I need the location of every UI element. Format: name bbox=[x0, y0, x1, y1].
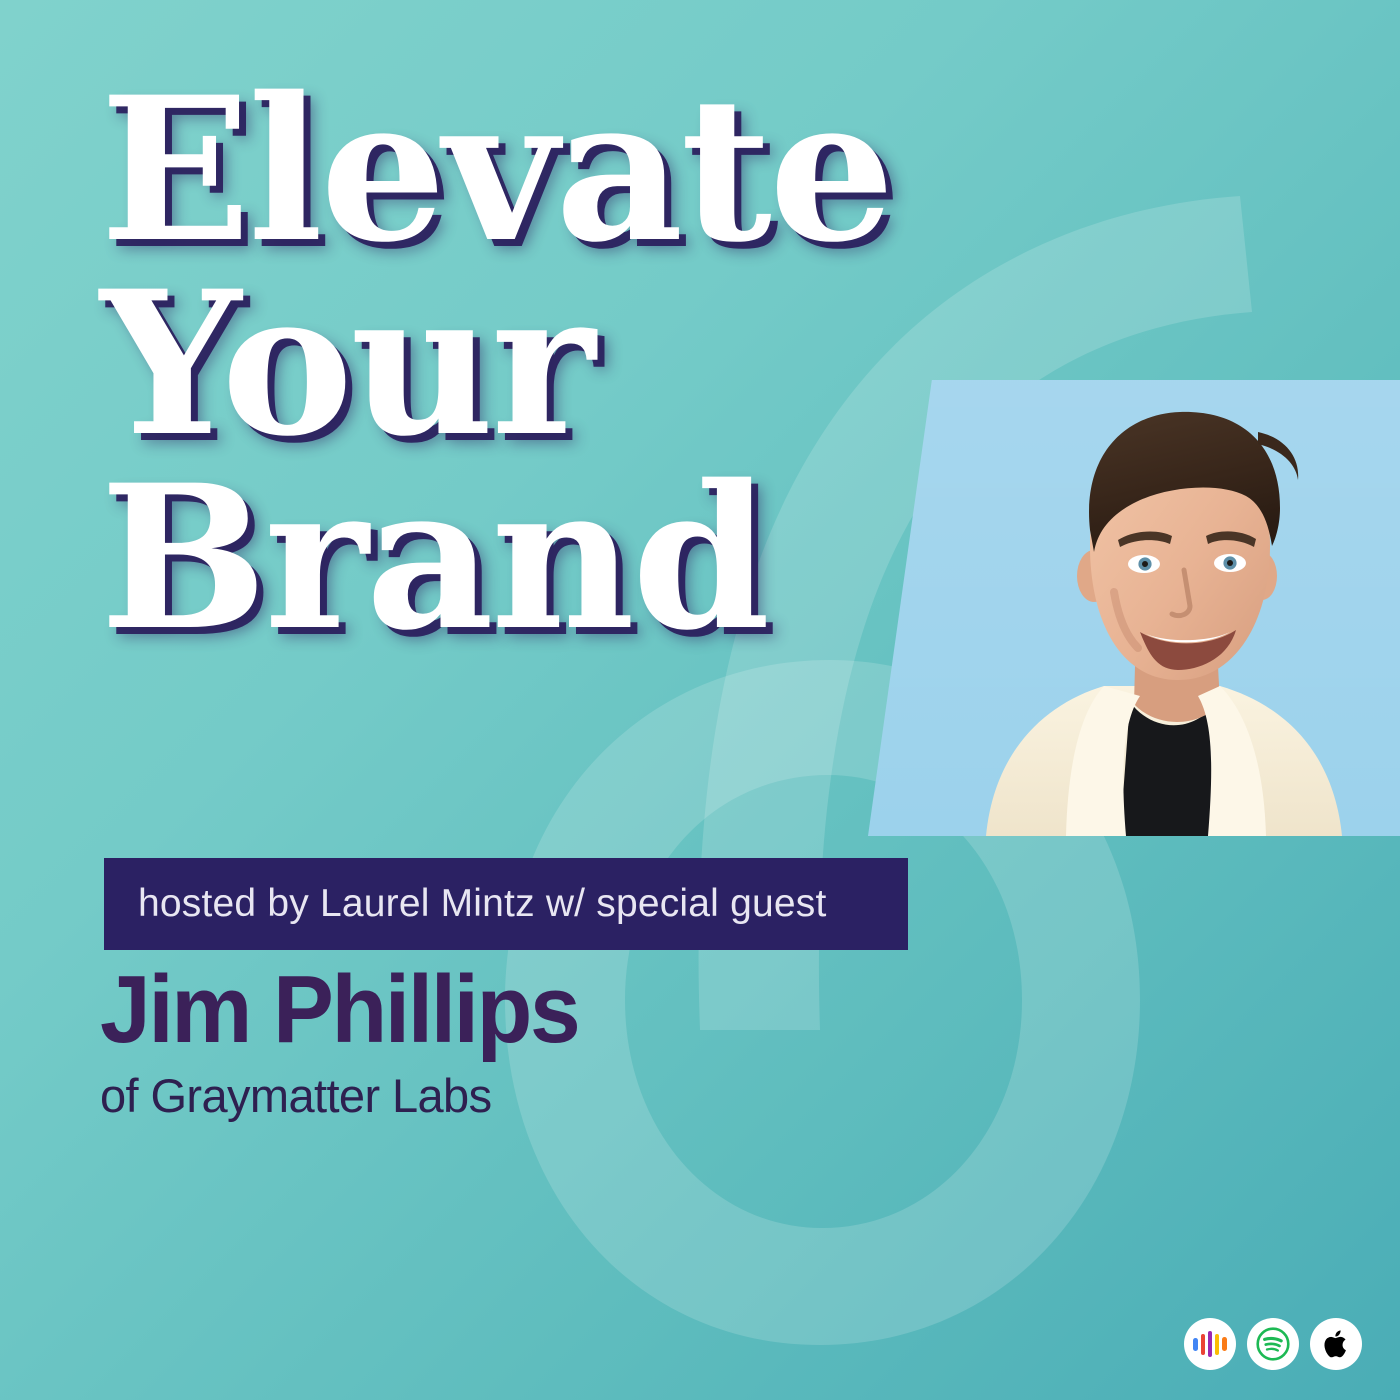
google-podcasts-icon bbox=[1193, 1331, 1226, 1357]
host-banner-text: hosted by Laurel Mintz w/ special guest bbox=[104, 882, 827, 926]
platform-badge-row bbox=[1184, 1318, 1362, 1370]
guest-name: Jim Phillips bbox=[100, 962, 578, 1058]
apple-podcasts-badge[interactable] bbox=[1310, 1318, 1362, 1370]
spotify-badge[interactable] bbox=[1247, 1318, 1299, 1370]
google-podcasts-badge[interactable] bbox=[1184, 1318, 1236, 1370]
podcast-cover-art: Elevate Your Brand hosted by Laurel Mint… bbox=[0, 0, 1400, 1400]
guest-company: of Graymatter Labs bbox=[100, 1072, 491, 1119]
spotify-icon bbox=[1256, 1327, 1290, 1361]
host-banner: hosted by Laurel Mintz w/ special guest bbox=[104, 858, 908, 950]
apple-icon bbox=[1323, 1328, 1349, 1360]
title-line-1: Elevate bbox=[100, 78, 1100, 262]
title-line-2: Your bbox=[100, 272, 1100, 456]
show-title: Elevate Your Brand bbox=[100, 78, 1100, 650]
title-line-3: Brand bbox=[100, 466, 1100, 650]
